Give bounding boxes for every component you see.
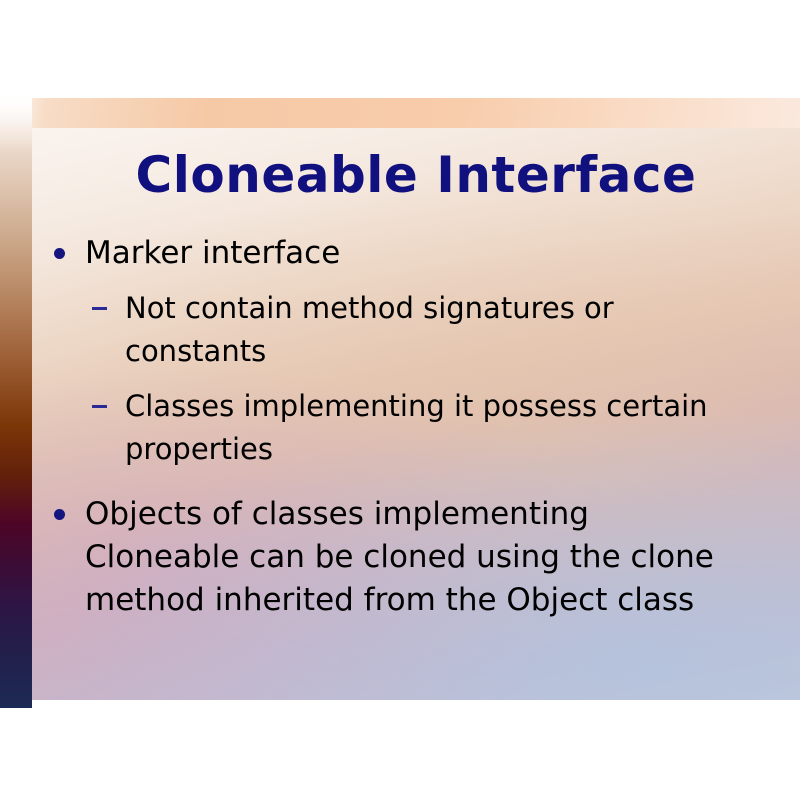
presentation-slide: Cloneable Interface Marker interface Not… xyxy=(0,0,800,800)
accent-band-decoration xyxy=(0,98,800,130)
list-item-label: Objects of classes implementing Cloneabl… xyxy=(85,493,800,622)
left-strip-fade-decoration xyxy=(0,92,32,152)
list-item: Not contain method signatures or constan… xyxy=(32,287,800,373)
dash-bullet-icon xyxy=(92,307,107,310)
slide-body-list: Marker interface Not contain method sign… xyxy=(32,232,800,626)
left-accent-strip-decoration xyxy=(0,92,32,708)
list-item: Classes implementing it possess certain … xyxy=(32,385,800,471)
list-item-label: Classes implementing it possess certain … xyxy=(125,385,800,471)
list-item: Marker interface xyxy=(32,232,800,275)
round-bullet-icon xyxy=(54,509,65,520)
list-item: Objects of classes implementing Cloneabl… xyxy=(32,493,800,622)
list-spacer xyxy=(32,483,800,493)
list-item-label: Not contain method signatures or constan… xyxy=(125,287,800,373)
slide-title: Cloneable Interface xyxy=(32,146,800,204)
round-bullet-icon xyxy=(54,248,65,259)
list-item-label: Marker interface xyxy=(85,232,800,275)
dash-bullet-icon xyxy=(92,405,107,408)
slide-content-panel: Cloneable Interface Marker interface Not… xyxy=(32,128,800,700)
